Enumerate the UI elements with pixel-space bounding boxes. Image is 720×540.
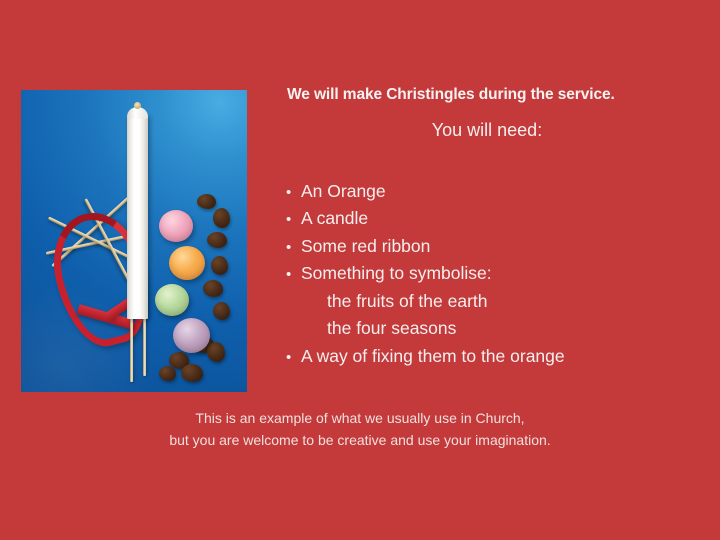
sub-list-item: the four seasons: [286, 315, 696, 342]
raisin: [181, 364, 203, 382]
subtitle: You will need:: [287, 120, 687, 141]
bullet-icon: •: [286, 181, 301, 205]
raisin: [213, 302, 230, 320]
list-item: • An Orange: [286, 178, 696, 205]
list-item: • A candle: [286, 205, 696, 232]
list-item-label: A candle: [301, 205, 368, 232]
raisin: [207, 342, 225, 362]
raisin: [213, 208, 230, 228]
bullet-icon: •: [286, 263, 301, 287]
christingle-photo: [21, 90, 247, 392]
sub-list-item: the fruits of the earth: [286, 288, 696, 315]
list-item: • Something to symbolise:: [286, 260, 696, 287]
white-candle: [127, 114, 148, 319]
list-item: • Some red ribbon: [286, 233, 696, 260]
raisin: [159, 366, 176, 381]
page-title: We will make Christingles during the ser…: [287, 86, 687, 104]
candle-wick-icon: [134, 102, 141, 109]
raisin: [207, 232, 227, 248]
raisin: [203, 280, 223, 297]
bullet-icon: •: [286, 346, 301, 370]
footer-line-1: This is an example of what we usually us…: [0, 408, 720, 430]
raisin: [197, 194, 216, 209]
jelly-sweet-orange: [169, 246, 205, 280]
footer-caption: This is an example of what we usually us…: [0, 408, 720, 451]
list-item: • A way of fixing them to the orange: [286, 343, 696, 370]
footer-line-2: but you are welcome to be creative and u…: [0, 430, 720, 452]
jelly-sweet-green: [155, 284, 189, 316]
list-item-label: An Orange: [301, 178, 386, 205]
jelly-sweet-purple: [173, 318, 210, 353]
list-item-label: Something to symbolise:: [301, 260, 492, 287]
list-item-label: A way of fixing them to the orange: [301, 343, 565, 370]
bullet-icon: •: [286, 236, 301, 260]
materials-list: • An Orange • A candle • Some red ribbon…: [286, 178, 696, 370]
bullet-icon: •: [286, 208, 301, 232]
jelly-sweet-pink: [159, 210, 193, 242]
slide-canvas: We will make Christingles during the ser…: [0, 0, 720, 540]
raisin: [211, 256, 228, 275]
list-item-label: Some red ribbon: [301, 233, 430, 260]
